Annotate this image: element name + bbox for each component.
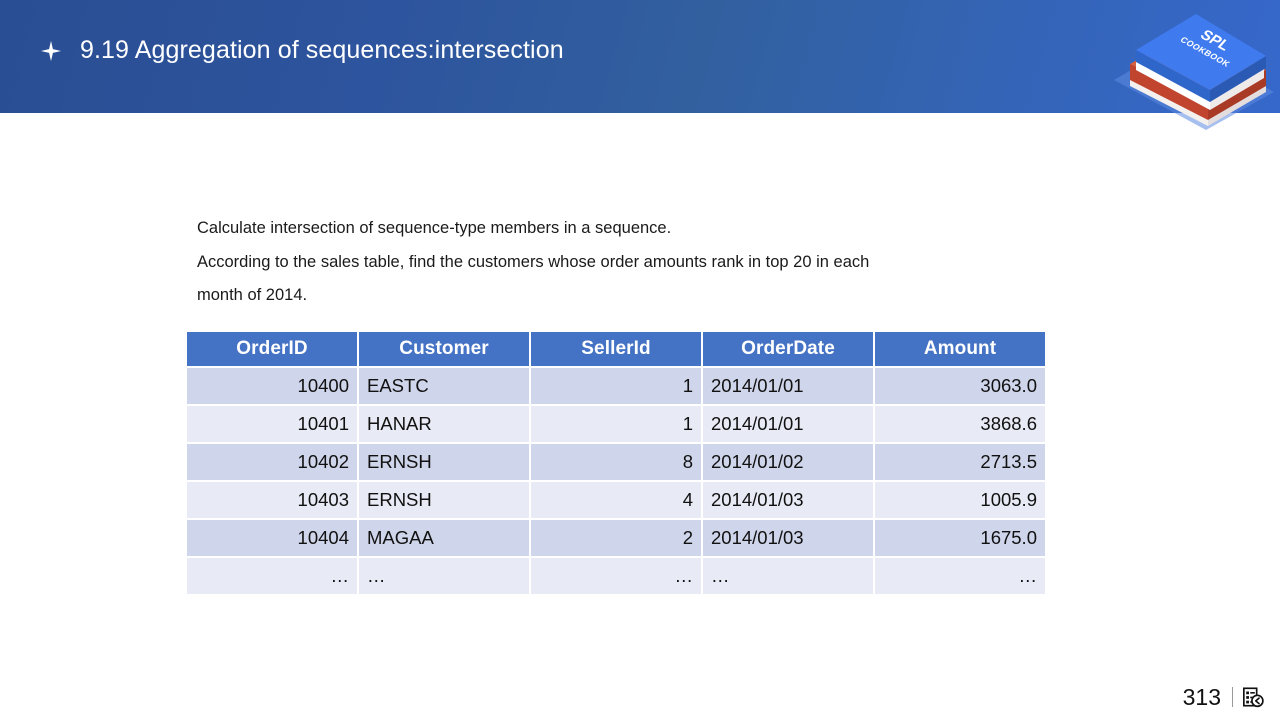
description-line-1: Calculate intersection of sequence-type …: [197, 212, 1047, 246]
cell-sellerid: 4: [531, 482, 701, 518]
page-number: 313: [1183, 686, 1221, 709]
slide-footer: 313: [1183, 680, 1264, 714]
cell-customer: …: [359, 558, 529, 594]
cell-customer: ERNSH: [359, 444, 529, 480]
table-row: 10404 MAGAA 2 2014/01/03 1675.0: [187, 520, 1045, 556]
table-row-ellipsis: … … … … …: [187, 558, 1045, 594]
cell-orderid: 10404: [187, 520, 357, 556]
cell-orderid: …: [187, 558, 357, 594]
sales-table-container: OrderID Customer SellerId OrderDate Amou…: [187, 332, 1041, 594]
page-title: 9.19 Aggregation of sequences:intersecti…: [80, 38, 564, 63]
cell-orderid: 10403: [187, 482, 357, 518]
cell-amount: 3063.0: [875, 368, 1045, 404]
table-row: 10400 EASTC 1 2014/01/01 3063.0: [187, 368, 1045, 404]
cell-amount: 1675.0: [875, 520, 1045, 556]
cell-orderdate: 2014/01/01: [703, 368, 873, 404]
table-row: 10401 HANAR 1 2014/01/01 3868.6: [187, 406, 1045, 442]
four-point-star-icon: [40, 40, 62, 62]
cell-orderdate: 2014/01/02: [703, 444, 873, 480]
table-column-header-customer: Customer: [359, 332, 529, 366]
cell-sellerid: 8: [531, 444, 701, 480]
table-column-header-sellerid: SellerId: [531, 332, 701, 366]
sales-table: OrderID Customer SellerId OrderDate Amou…: [185, 330, 1047, 596]
cell-sellerid: 2: [531, 520, 701, 556]
document-back-icon[interactable]: [1242, 686, 1264, 708]
cell-amount: 1005.9: [875, 482, 1045, 518]
cell-customer: HANAR: [359, 406, 529, 442]
description-line-3: month of 2014.: [197, 279, 1047, 313]
header-title-row: 9.19 Aggregation of sequences:intersecti…: [40, 38, 564, 63]
table-row: 10402 ERNSH 8 2014/01/02 2713.5: [187, 444, 1045, 480]
table-column-header-orderid: OrderID: [187, 332, 357, 366]
cell-customer: ERNSH: [359, 482, 529, 518]
cell-amount: …: [875, 558, 1045, 594]
cell-sellerid: …: [531, 558, 701, 594]
cell-orderid: 10400: [187, 368, 357, 404]
footer-divider: [1232, 687, 1233, 707]
table-column-header-orderdate: OrderDate: [703, 332, 873, 366]
description-line-2: According to the sales table, find the c…: [197, 246, 1047, 280]
table-header-row: OrderID Customer SellerId OrderDate Amou…: [187, 332, 1045, 366]
cell-orderid: 10401: [187, 406, 357, 442]
table-column-header-amount: Amount: [875, 332, 1045, 366]
cell-sellerid: 1: [531, 368, 701, 404]
cell-amount: 2713.5: [875, 444, 1045, 480]
cell-amount: 3868.6: [875, 406, 1045, 442]
table-row: 10403 ERNSH 4 2014/01/03 1005.9: [187, 482, 1045, 518]
cell-orderdate: 2014/01/03: [703, 520, 873, 556]
cell-orderdate: 2014/01/03: [703, 482, 873, 518]
cell-orderid: 10402: [187, 444, 357, 480]
slide-header: 9.19 Aggregation of sequences:intersecti…: [0, 0, 1280, 113]
cell-orderdate: 2014/01/01: [703, 406, 873, 442]
cell-customer: EASTC: [359, 368, 529, 404]
cell-orderdate: …: [703, 558, 873, 594]
cell-customer: MAGAA: [359, 520, 529, 556]
cell-sellerid: 1: [531, 406, 701, 442]
description-text: Calculate intersection of sequence-type …: [197, 212, 1047, 313]
